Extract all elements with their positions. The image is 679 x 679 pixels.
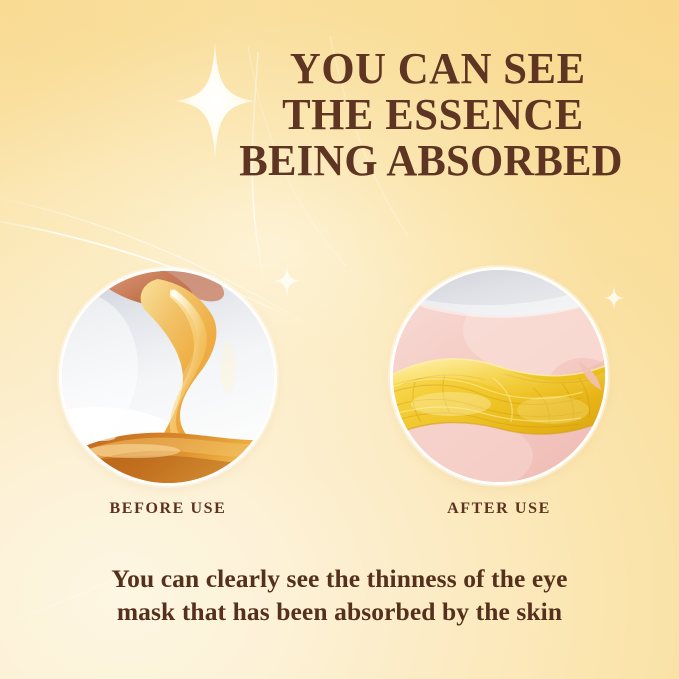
page-title: YOU CAN SEE THE ESSENCE BEING ABSORBED bbox=[196, 46, 666, 184]
headline-line-2: THE ESSENCE bbox=[203, 92, 659, 138]
before-use-image bbox=[62, 271, 274, 483]
caption-line-2: mask that has been absorbed by the skin bbox=[28, 595, 651, 628]
bottom-caption: You can clearly see the thinness of the … bbox=[28, 562, 651, 628]
headline-line-3: BEING ABSORBED bbox=[203, 138, 659, 184]
before-use-label: BEFORE USE bbox=[62, 500, 274, 518]
caption-line-1: You can clearly see the thinness of the … bbox=[28, 562, 651, 595]
after-use-photo bbox=[393, 270, 605, 482]
after-use-label: AFTER USE bbox=[393, 500, 605, 518]
before-use-photo bbox=[62, 271, 274, 483]
headline-line-1: YOU CAN SEE bbox=[203, 46, 659, 92]
after-use-image bbox=[393, 270, 605, 482]
promo-poster: YOU CAN SEE THE ESSENCE BEING ABSORBED bbox=[0, 0, 679, 679]
